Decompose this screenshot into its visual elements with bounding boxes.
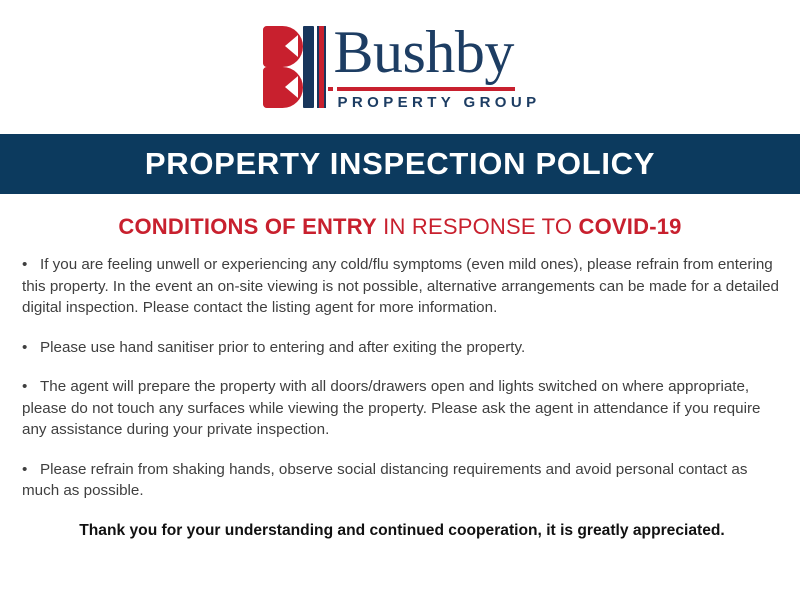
logo-area: Bushby PROPERTY GROUP xyxy=(0,0,800,134)
policy-paragraph: • If you are feeling unwell or experienc… xyxy=(22,254,782,319)
subtitle-lead: CONDITIONS OF ENTRY xyxy=(118,214,376,239)
policy-paragraph: • The agent will prepare the property wi… xyxy=(22,376,782,441)
bushby-b-monogram-icon xyxy=(259,24,327,110)
monogram-notch-bottom xyxy=(285,76,298,98)
logo-wordmark: Bushby xyxy=(333,24,540,80)
policy-paragraph-text: Please refrain from shaking hands, obser… xyxy=(22,461,747,500)
subtitle-mid: IN RESPONSE TO xyxy=(377,214,579,239)
policy-paragraph-text: The agent will prepare the property with… xyxy=(22,378,760,438)
subtitle: CONDITIONS OF ENTRY IN RESPONSE TO COVID… xyxy=(0,214,800,240)
bullet-icon: • xyxy=(22,378,27,395)
policy-paragraph: • Please use hand sanitiser prior to ent… xyxy=(22,337,782,359)
monogram-notch-top xyxy=(285,35,298,57)
bullet-icon: • xyxy=(22,461,27,478)
policy-paragraph: • Please refrain from shaking hands, obs… xyxy=(22,459,782,502)
logo-divider-rule xyxy=(337,87,515,91)
subtitle-tail: COVID-19 xyxy=(579,214,682,239)
page-title: PROPERTY INSPECTION POLICY xyxy=(145,146,655,182)
policy-paragraph-text: Please use hand sanitiser prior to enter… xyxy=(40,339,525,356)
logo-wordmark-group: Bushby PROPERTY GROUP xyxy=(333,24,540,111)
policy-paragraph-text: If you are feeling unwell or experiencin… xyxy=(22,256,779,316)
monogram-accent-bar xyxy=(317,26,326,108)
policy-body: • If you are feeling unwell or experienc… xyxy=(22,254,782,502)
closing-statement: Thank you for your understanding and con… xyxy=(22,520,782,542)
monogram-spine-bar xyxy=(303,26,314,108)
bullet-icon: • xyxy=(22,339,27,356)
bullet-icon: • xyxy=(22,256,27,273)
logo-tagline: PROPERTY GROUP xyxy=(337,94,540,111)
title-band: PROPERTY INSPECTION POLICY xyxy=(0,134,800,194)
bushby-logo: Bushby PROPERTY GROUP xyxy=(259,24,540,110)
